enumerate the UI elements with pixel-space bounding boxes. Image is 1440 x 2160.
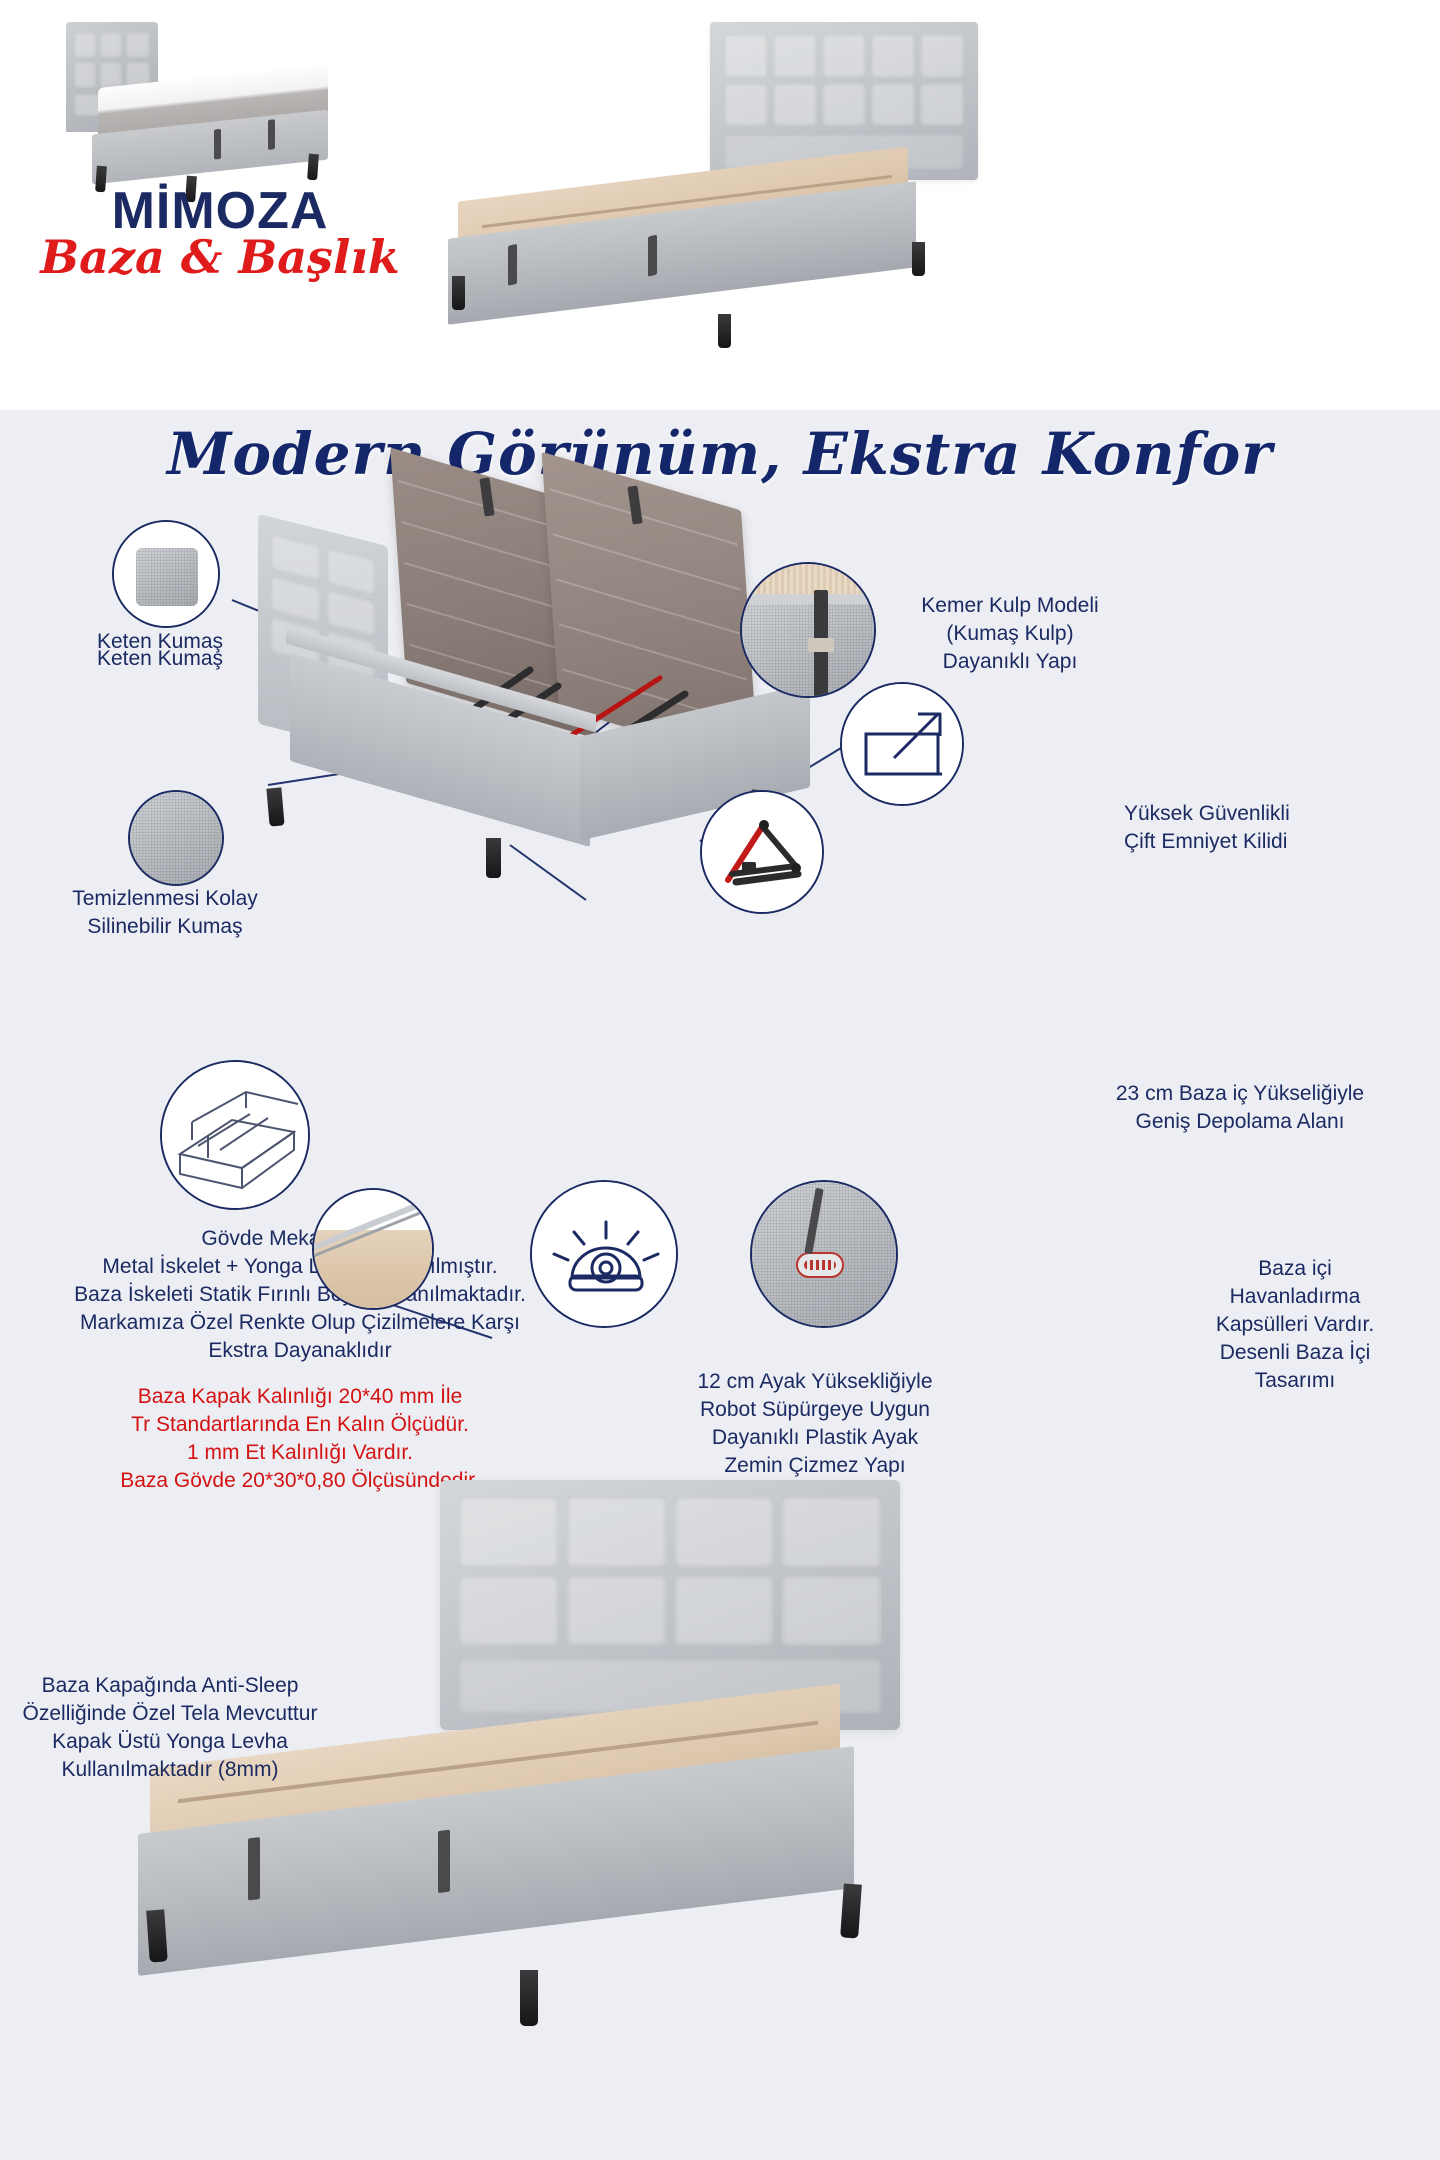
leg-bottom bbox=[520, 1970, 538, 2026]
leg-bottom bbox=[146, 1909, 168, 1962]
hero-bed-small bbox=[58, 18, 358, 198]
brand-tagline: Baza & Başlık bbox=[20, 233, 420, 281]
label-anti-sleep: Baza Kapağında Anti-Sleep Özelliğinde Öz… bbox=[0, 1672, 340, 1784]
hero-bed-large bbox=[430, 14, 990, 344]
leg-large bbox=[912, 242, 925, 276]
storage-arrow-icon bbox=[842, 684, 964, 806]
infographic-canvas: MİMOZA Baza & Başlık Modern Görünüm, Eks… bbox=[0, 0, 1440, 2160]
bubble-safety-lock bbox=[700, 790, 824, 914]
label-ventilation: Baza içi Havanladırma Kapsülleri Vardır.… bbox=[1170, 1255, 1420, 1395]
ventilation-capsule-icon bbox=[752, 1182, 896, 1326]
robot-vacuum-icon bbox=[532, 1182, 678, 1328]
label-safety-lock: Yüksek Güvenlikli Çift Emniyet Kilidi bbox=[1124, 800, 1440, 856]
leg-large bbox=[452, 276, 465, 310]
bubble-ventilation bbox=[750, 1180, 898, 1328]
label-body-mechanism-red: Baza Kapak Kalınlığı 20*40 mm İle Tr Sta… bbox=[20, 1383, 580, 1495]
bubble-body-mechanism bbox=[160, 1060, 310, 1210]
label-keten: Keten Kumaş bbox=[20, 628, 300, 656]
leg-center bbox=[266, 787, 284, 826]
lift-mechanism-icon bbox=[162, 1062, 310, 1210]
label-easy-clean: Temizlenmesi Kolay Silinebilir Kumaş bbox=[20, 885, 310, 941]
brand-block: MİMOZA Baza & Başlık bbox=[20, 185, 420, 281]
leg-large bbox=[718, 314, 731, 348]
bubble-belt-handle bbox=[740, 562, 876, 698]
leg-center bbox=[486, 838, 501, 878]
label-storage-height: 23 cm Baza iç Yükseliğiyle Geniş Depolam… bbox=[1040, 1080, 1440, 1136]
leg-bottom bbox=[840, 1883, 862, 1938]
bubble-anti-sleep bbox=[312, 1188, 434, 1310]
bubble-robot-vacuum bbox=[530, 1180, 678, 1328]
belt-handle-icon bbox=[742, 564, 874, 696]
label-belt-handle: Kemer Kulp Modeli (Kumaş Kulp) Dayanıklı… bbox=[860, 592, 1160, 676]
bubble-linen-fabric bbox=[112, 520, 220, 628]
wipeable-fabric-icon bbox=[130, 792, 222, 884]
bubble-easy-clean bbox=[128, 790, 224, 886]
double-safety-lock-icon bbox=[702, 792, 824, 914]
leg-small bbox=[307, 154, 319, 181]
label-robot-vacuum: 12 cm Ayak Yüksekliğiyle Robot Süpürgeye… bbox=[620, 1368, 1010, 1480]
headboard-tufting bbox=[724, 34, 964, 126]
label-body-mechanism: Gövde Mekanizması: Metal İskelet + Yonga… bbox=[20, 1225, 580, 1365]
fabric-swatch-icon bbox=[136, 548, 198, 606]
bubble-storage-height bbox=[840, 682, 964, 806]
